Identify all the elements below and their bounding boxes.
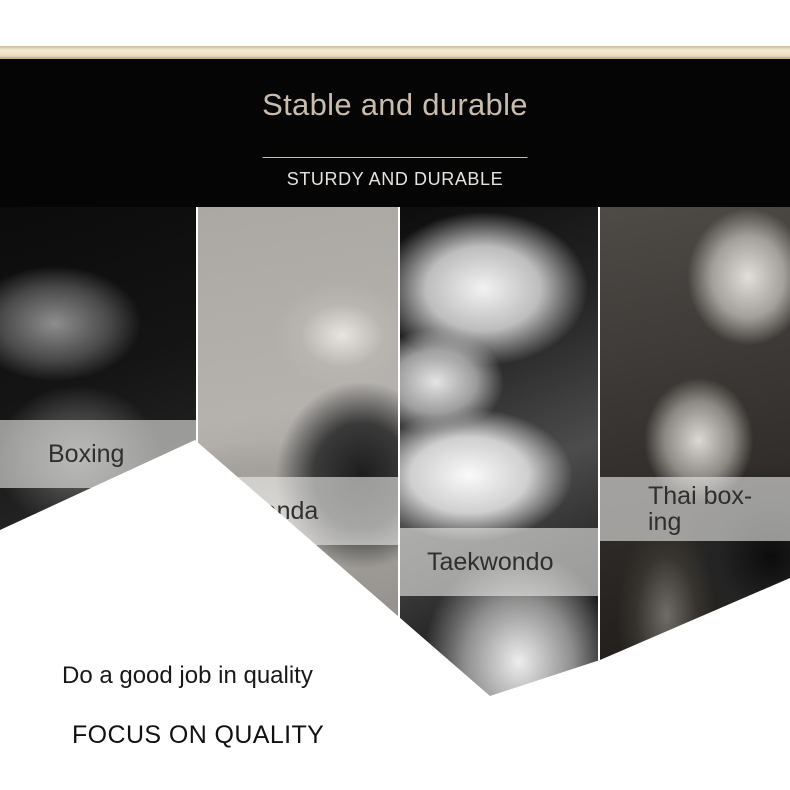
footer-line-2: FOCUS ON QUALITY xyxy=(0,718,790,752)
panel-label-taekwondo: Taekwondo xyxy=(400,528,598,596)
panel-label-text: Boxing xyxy=(48,440,124,469)
page-subtitle: STURDY AND DURABLE xyxy=(0,167,790,191)
page-title: Stable and durable xyxy=(0,86,790,124)
panel-label-text: Taekwondo xyxy=(427,548,553,577)
footer-line-1: Do a good job in quality xyxy=(0,660,790,692)
panel-label-thai-boxing: Thai box- ing xyxy=(600,477,790,541)
top-white-margin xyxy=(0,0,790,46)
hero-black-band: Stable and durable STURDY AND DURABLE xyxy=(0,59,790,207)
footer-copy: Do a good job in quality FOCUS ON QUALIT… xyxy=(0,660,790,752)
product-detail-banner: Stable and durable STURDY AND DURABLE Bo… xyxy=(0,0,790,790)
panel-label-text: Thai box- ing xyxy=(648,483,752,535)
tan-trim-strip xyxy=(0,46,790,59)
title-divider xyxy=(263,157,528,158)
